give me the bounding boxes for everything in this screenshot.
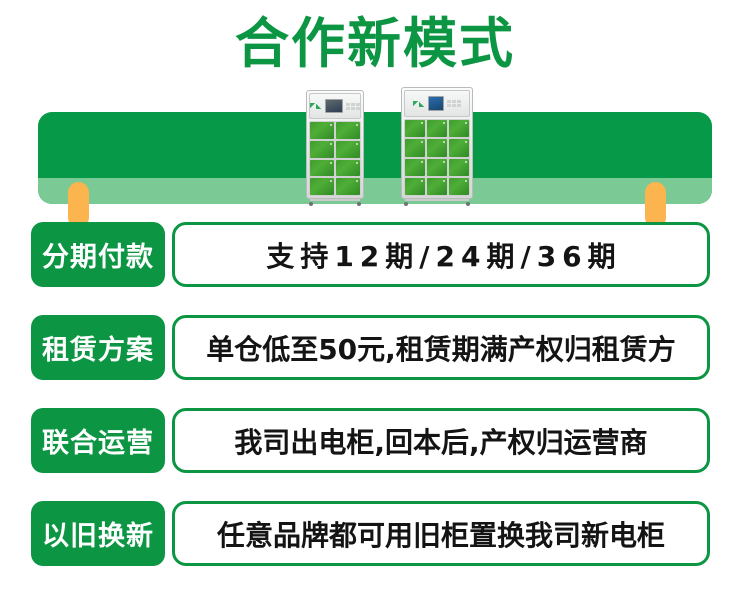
cabinet-body bbox=[306, 90, 364, 199]
locker-door bbox=[449, 159, 469, 176]
locker-door bbox=[310, 141, 334, 158]
feature-badge-trade-in[interactable]: 以旧换新 bbox=[31, 501, 165, 566]
feature-text-installment: 支持12期/24期/36期 bbox=[172, 222, 710, 287]
locker-door bbox=[427, 178, 447, 195]
locker-door bbox=[427, 159, 447, 176]
charging-cabinet-12-door bbox=[401, 87, 473, 206]
feature-row-lease: 租赁方案 单仓低至50元,租赁期满产权归租赁方 bbox=[0, 315, 750, 380]
feature-text-trade-in: 任意品牌都可用旧柜置换我司新电柜 bbox=[172, 501, 710, 566]
locker-door bbox=[405, 139, 425, 156]
cabinet-body bbox=[401, 87, 473, 199]
cabinet-control-panel bbox=[309, 93, 361, 119]
banner-shelf-strip bbox=[38, 178, 712, 204]
locker-grid bbox=[404, 119, 470, 196]
locker-door bbox=[449, 139, 469, 156]
feature-row-joint-operation: 联合运营 我司出电柜,回本后,产权归运营商 bbox=[0, 408, 750, 473]
feature-list: 分期付款 支持12期/24期/36期 租赁方案 单仓低至50元,租赁期满产权归租… bbox=[0, 222, 750, 594]
locker-door bbox=[336, 178, 360, 195]
locker-door bbox=[449, 120, 469, 137]
keypad-icon bbox=[447, 100, 461, 107]
feature-text-lease: 单仓低至50元,租赁期满产权归租赁方 bbox=[172, 315, 710, 380]
feature-badge-lease[interactable]: 租赁方案 bbox=[31, 315, 165, 380]
locker-door bbox=[310, 178, 334, 195]
locker-door bbox=[405, 120, 425, 137]
locker-door bbox=[310, 122, 334, 139]
feature-badge-joint-operation[interactable]: 联合运营 bbox=[31, 408, 165, 473]
hero-banner bbox=[38, 112, 712, 204]
feature-row-trade-in: 以旧换新 任意品牌都可用旧柜置换我司新电柜 bbox=[0, 501, 750, 566]
feature-text-joint-operation: 我司出电柜,回本后,产权归运营商 bbox=[172, 408, 710, 473]
cabinet-casters bbox=[308, 199, 362, 206]
brand-logo-icon bbox=[310, 103, 322, 109]
lcd-screen-icon bbox=[325, 99, 343, 113]
cabinet-casters bbox=[403, 199, 471, 206]
cabinet-control-panel bbox=[404, 90, 470, 117]
banner-plate bbox=[38, 112, 712, 204]
brand-logo-icon bbox=[413, 101, 425, 107]
charging-cabinet-8-door bbox=[306, 90, 364, 206]
lcd-screen-icon bbox=[428, 96, 444, 111]
feature-row-installment: 分期付款 支持12期/24期/36期 bbox=[0, 222, 750, 287]
locker-door bbox=[336, 160, 360, 177]
locker-door bbox=[405, 159, 425, 176]
page-title: 合作新模式 bbox=[0, 12, 750, 76]
keypad-icon bbox=[346, 103, 360, 110]
locker-door bbox=[449, 178, 469, 195]
feature-badge-installment[interactable]: 分期付款 bbox=[31, 222, 165, 287]
locker-door bbox=[427, 120, 447, 137]
locker-door bbox=[336, 141, 360, 158]
locker-grid bbox=[309, 121, 361, 196]
locker-door bbox=[336, 122, 360, 139]
locker-door bbox=[310, 160, 334, 177]
locker-door bbox=[405, 178, 425, 195]
locker-door bbox=[427, 139, 447, 156]
